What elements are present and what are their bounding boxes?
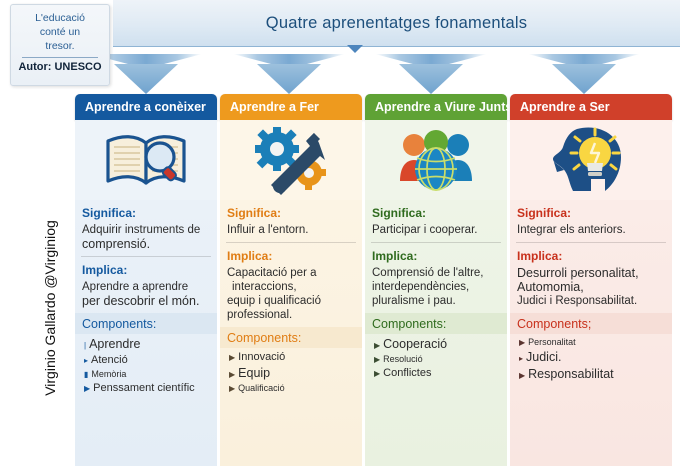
significa-label: Significa: <box>227 206 355 220</box>
components-list-3: ▶ Cooperació ▶ Resolució ▶ Conflictes <box>365 334 507 388</box>
list-item: ▶ Equip <box>229 366 355 380</box>
column-body-2: Significa: Influir a l'entorn. Implica: … <box>220 200 362 466</box>
implica-line-3: pluralisme i pau. <box>372 294 500 308</box>
component-label: Memòria <box>91 369 126 379</box>
implica-label: Implica: <box>372 249 500 263</box>
head-lightbulb-icon <box>510 120 672 200</box>
implica-section-3: Implica: Comprensió de l'altre, interdep… <box>365 243 507 313</box>
components-label-4: Components; <box>510 313 672 334</box>
component-label: Resolució <box>383 354 423 364</box>
list-item: ▶ Resolució <box>374 354 500 364</box>
list-item: ▶ Innovació <box>229 351 355 363</box>
bullet-icon: ▶ <box>374 370 380 378</box>
significa-line-1: Participar i cooperar. <box>372 223 500 237</box>
header-notch-icon <box>347 45 363 53</box>
significa-label: Significa: <box>517 206 665 220</box>
significa-line-1: Integrar els anteriors. <box>517 223 665 237</box>
infographic-canvas: Quatre aprenentatges fonamentals L'educa… <box>0 0 680 466</box>
bullet-icon: ▸ <box>84 357 88 365</box>
significa-line-1: Adquirir instruments de <box>82 223 210 237</box>
list-item: ▶ Cooperació <box>374 337 500 351</box>
list-item: ▶ Responsabilitat <box>519 367 665 381</box>
gear-wrench-icon <box>220 120 362 200</box>
list-item: ▶ Personalitat <box>519 337 665 347</box>
component-label: Cooperació <box>383 337 447 351</box>
column-header-4: Aprendre a Ser <box>510 94 672 120</box>
page-title: Quatre aprenentatges fonamentals <box>266 14 527 33</box>
bullet-icon: ▮ <box>84 371 88 379</box>
quote-line-1: L'educació <box>35 11 85 25</box>
significa-section-1: Significa: Adquirir instruments de compr… <box>75 200 217 256</box>
list-item: ▸ Atenció <box>84 354 210 366</box>
arrow-stem <box>114 64 178 94</box>
significa-text: Adquirir instruments de comprensió. <box>82 223 210 251</box>
component-label: Penssament científic <box>93 382 195 394</box>
arrow-stem <box>552 64 616 94</box>
column-header-3: Aprendre a Viure Junts <box>365 94 507 120</box>
bullet-icon: | <box>84 342 86 350</box>
down-arrow-icon-4 <box>528 50 640 94</box>
column-apprendre-a-ser: Aprendre a Ser <box>510 94 672 466</box>
implica-text: Comprensió de l'altre, interdependències… <box>372 266 500 308</box>
column-body-4: Significa: Integrar els anteriors. Impli… <box>510 200 672 466</box>
implica-text: Capacitació per a interaccions, equip i … <box>227 266 355 322</box>
implica-line-2: Automomia, <box>517 280 665 294</box>
column-header-2: Aprendre a Fer <box>220 94 362 120</box>
implica-line-4: professional. <box>227 308 355 322</box>
significa-line-2: comprensió. <box>82 237 210 251</box>
implica-section-2: Implica: Capacitació per a interaccions,… <box>220 243 362 327</box>
implica-line-3: Judici i Responsabilitat. <box>517 294 665 308</box>
implica-label: Implica: <box>82 263 210 277</box>
component-label: Aprendre <box>89 337 140 351</box>
quote-line-2: conté un <box>40 25 80 39</box>
component-label: Personalitat <box>528 337 576 347</box>
quote-divider <box>22 57 98 58</box>
people-globe-icon <box>365 120 507 200</box>
bullet-icon: ▶ <box>374 342 380 350</box>
bullet-icon: ▶ <box>229 371 235 379</box>
significa-line-1: Influir a l'entorn. <box>227 223 355 237</box>
open-book-magnifier-icon <box>75 120 217 200</box>
column-apprendre-a-viure-junts: Aprendre a Viure Junts <box>365 94 507 466</box>
arrow-stem <box>399 64 463 94</box>
implica-line-3: equip i qualificació <box>227 294 355 308</box>
implica-line-2: per descobrir el món. <box>82 294 210 308</box>
significa-text: Integrar els anteriors. <box>517 223 665 237</box>
significa-text: Participar i cooperar. <box>372 223 500 237</box>
column-apprendre-a-fer: Aprendre a Fer <box>220 94 362 466</box>
bullet-icon: ▶ <box>229 354 235 362</box>
significa-text: Influir a l'entorn. <box>227 223 355 237</box>
implica-text: Aprendre a aprendre per descobrir el món… <box>82 280 210 308</box>
author-credit: Virginio Gallardo @Virginiog <box>42 178 58 438</box>
implica-label: Implica: <box>227 249 355 263</box>
implica-line-1: Desurroli personalitat, <box>517 266 665 280</box>
bullet-icon: ▶ <box>374 356 380 364</box>
bullet-icon: ▶ <box>519 372 525 380</box>
list-item: | Aprendre <box>84 337 210 351</box>
bullet-icon: ▶ <box>229 385 235 393</box>
implica-line-2: interdependències, <box>372 280 500 294</box>
down-arrow-icon-2 <box>233 50 345 94</box>
significa-section-4: Significa: Integrar els anteriors. <box>510 200 672 242</box>
arrow-stem <box>257 64 321 94</box>
significa-section-3: Significa: Participar i cooperar. <box>365 200 507 242</box>
components-list-2: ▶ Innovació ▶ Equip ▶ Qualificació <box>220 348 362 402</box>
component-label: Qualificació <box>238 383 285 393</box>
components-list-1: | Aprendre ▸ Atenció ▮ Memòria ▶ Penssam… <box>75 334 217 403</box>
quote-line-3: tresor. <box>45 39 74 53</box>
components-list-4: ▶ Personalitat ▸ Judici. ▶ Responsabilit… <box>510 334 672 390</box>
list-item: ▮ Memòria <box>84 369 210 379</box>
components-label-3: Components: <box>365 313 507 334</box>
unesco-quote-box: L'educació conté un tresor. Autor: UNESC… <box>10 4 110 86</box>
list-item: ▶ Conflictes <box>374 367 500 379</box>
significa-label: Significa: <box>82 206 210 220</box>
column-apprendre-a-coneixer: Aprendre a conèixer <box>75 94 217 466</box>
list-item: ▶ Penssament científic <box>84 382 210 394</box>
down-arrow-icon-3 <box>375 50 487 94</box>
component-label: Atenció <box>91 354 128 366</box>
significa-section-2: Significa: Influir a l'entorn. <box>220 200 362 242</box>
component-label: Responsabilitat <box>528 367 613 381</box>
list-item: ▸ Judici. <box>519 350 665 364</box>
implica-label: Implica: <box>517 249 665 263</box>
component-label: Judici. <box>526 350 561 364</box>
implica-line-1: Capacitació per a <box>227 266 355 280</box>
implica-text: Desurroli personalitat, Automomia, Judic… <box>517 266 665 308</box>
columns-container: Aprendre a conèixer <box>75 94 675 466</box>
component-label: Conflictes <box>383 367 431 379</box>
bullet-icon: ▸ <box>519 355 523 363</box>
column-body-1: Significa: Adquirir instruments de compr… <box>75 200 217 466</box>
component-label: Innovació <box>238 351 285 363</box>
significa-label: Significa: <box>372 206 500 220</box>
implica-section-4: Implica: Desurroli personalitat, Automom… <box>510 243 672 313</box>
implica-line-1: Comprensió de l'altre, <box>372 266 500 280</box>
header-band: Quatre aprenentatges fonamentals <box>113 0 680 47</box>
list-item: ▶ Qualificació <box>229 383 355 393</box>
column-body-3: Significa: Participar i cooperar. Implic… <box>365 200 507 466</box>
component-label: Equip <box>238 366 270 380</box>
quote-author: Autor: UNESCO <box>18 61 101 73</box>
components-label-2: Components: <box>220 327 362 348</box>
implica-line-2: interaccions, <box>227 280 355 294</box>
components-label-1: Components: <box>75 313 217 334</box>
bullet-icon: ▶ <box>519 339 525 347</box>
column-header-1: Aprendre a conèixer <box>75 94 217 120</box>
implica-line-1: Aprendre a aprendre <box>82 280 210 294</box>
bullet-icon: ▶ <box>84 385 90 393</box>
implica-section-1: Implica: Aprendre a aprendre per descobr… <box>75 257 217 313</box>
